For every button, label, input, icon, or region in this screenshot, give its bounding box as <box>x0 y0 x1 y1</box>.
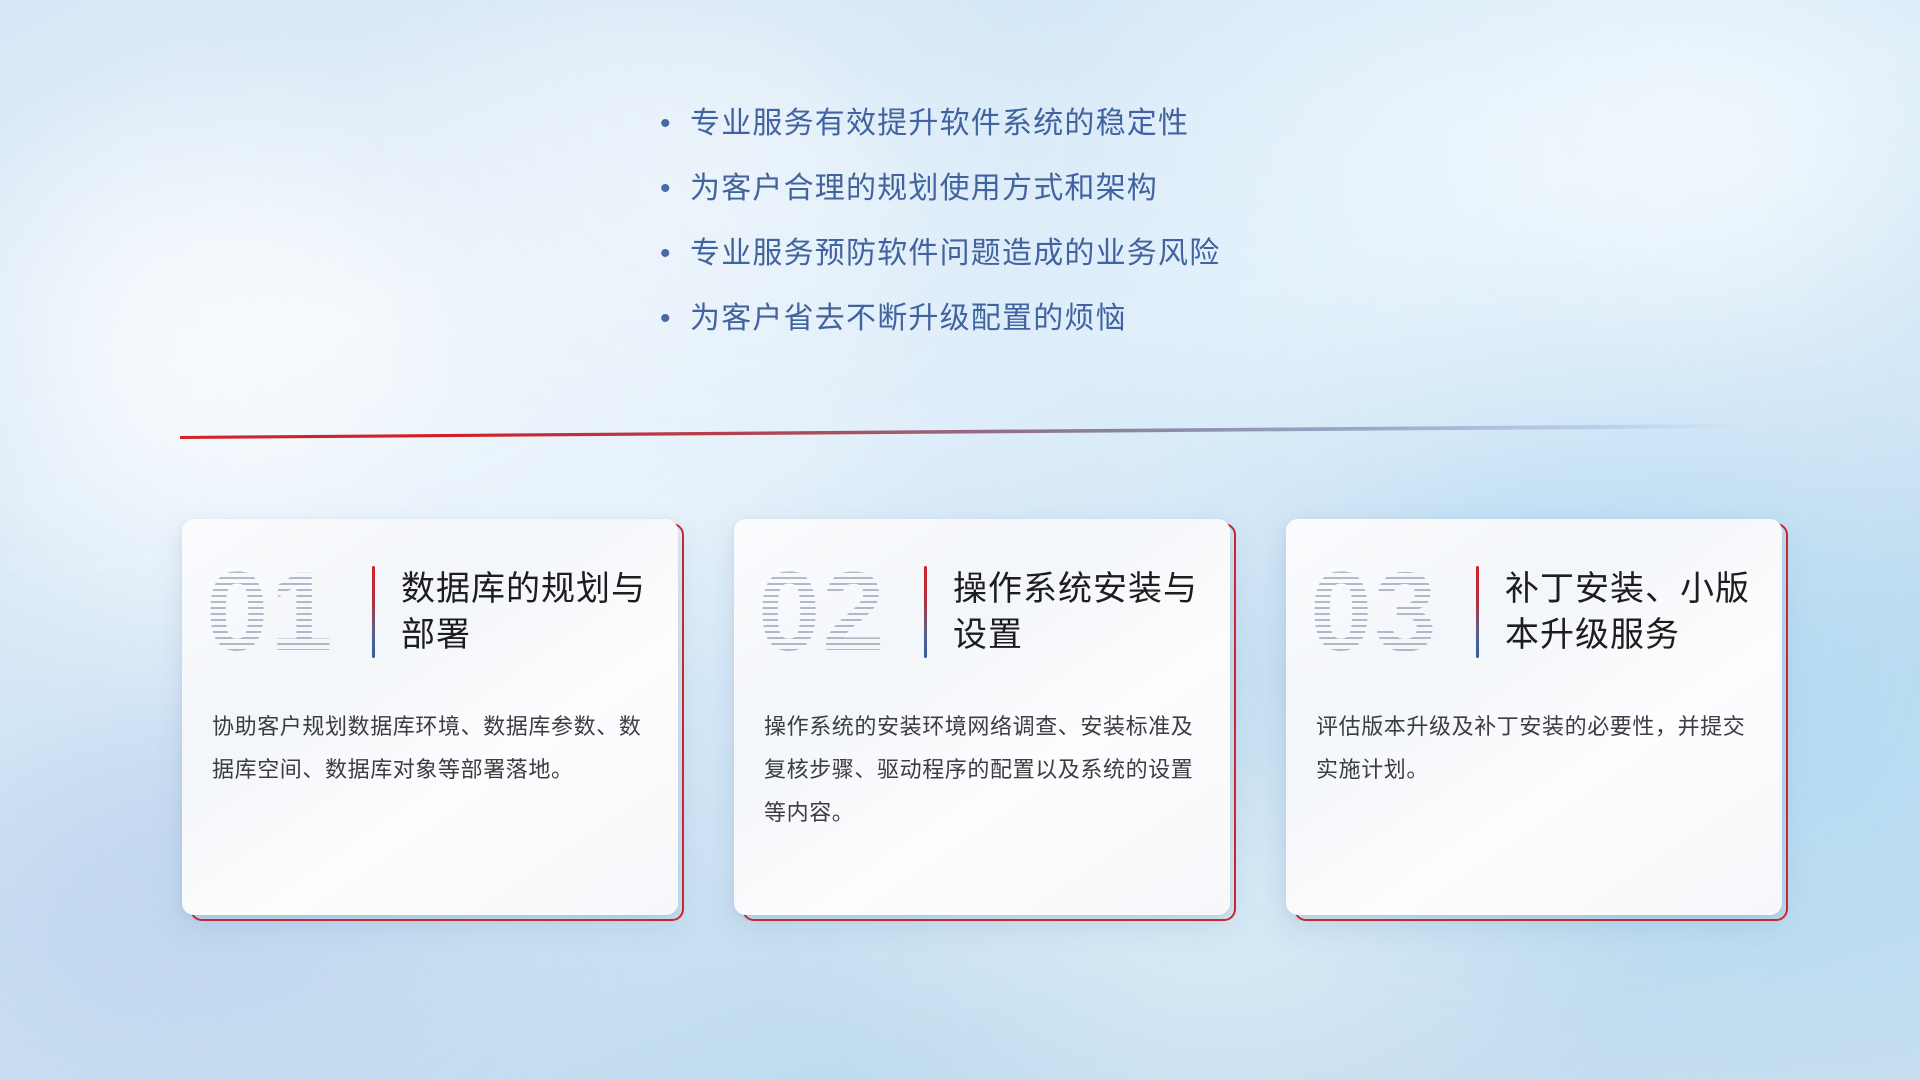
bullet-dot-icon: • <box>660 234 690 272</box>
section-divider <box>180 420 1740 444</box>
service-card-01[interactable]: 01 数据库的规划与部署 协助客户规划数据库环境、数据库参数、数据库空间、数据库… <box>182 519 678 915</box>
list-item: • 为客户省去不断升级配置的烦恼 <box>660 299 1480 364</box>
card-header: 01 数据库的规划与部署 <box>182 519 678 705</box>
bullet-dot-icon: • <box>660 169 690 207</box>
card-surface: 03 补丁安装、小版本升级服务 评估版本升级及补丁安装的必要性，并提交实施计划。 <box>1286 519 1782 915</box>
bullet-text: 专业服务有效提升软件系统的稳定性 <box>690 104 1189 144</box>
benefits-bullet-list: • 专业服务有效提升软件系统的稳定性 • 为客户合理的规划使用方式和架构 • 专… <box>660 104 1480 364</box>
card-description: 操作系统的安装环境网络调查、安装标准及复核步骤、驱动程序的配置以及系统的设置等内… <box>734 705 1230 834</box>
card-divider-rule <box>924 566 927 658</box>
slide-root: • 专业服务有效提升软件系统的稳定性 • 为客户合理的规划使用方式和架构 • 专… <box>0 0 1920 1080</box>
tapered-divider-icon <box>180 420 1740 444</box>
bullet-dot-icon: • <box>660 104 690 142</box>
card-header: 03 补丁安装、小版本升级服务 <box>1286 519 1782 705</box>
bullet-text: 为客户合理的规划使用方式和架构 <box>690 169 1158 209</box>
bullet-dot-icon: • <box>660 299 690 337</box>
list-item: • 为客户合理的规划使用方式和架构 <box>660 169 1480 234</box>
card-number: 02 <box>758 547 918 677</box>
card-number: 03 <box>1310 547 1470 677</box>
card-surface: 01 数据库的规划与部署 协助客户规划数据库环境、数据库参数、数据库空间、数据库… <box>182 519 678 915</box>
list-item: • 专业服务预防软件问题造成的业务风险 <box>660 234 1480 299</box>
card-title: 操作系统安装与设置 <box>953 566 1203 658</box>
card-divider-rule <box>372 566 375 658</box>
card-description: 协助客户规划数据库环境、数据库参数、数据库空间、数据库对象等部署落地。 <box>182 705 678 791</box>
card-divider-rule <box>1476 566 1479 658</box>
card-description: 评估版本升级及补丁安装的必要性，并提交实施计划。 <box>1286 705 1782 791</box>
list-item: • 专业服务有效提升软件系统的稳定性 <box>660 104 1480 169</box>
card-surface: 02 操作系统安装与设置 操作系统的安装环境网络调查、安装标准及复核步骤、驱动程… <box>734 519 1230 915</box>
bullet-text: 专业服务预防软件问题造成的业务风险 <box>690 234 1220 274</box>
service-card-row: 01 数据库的规划与部署 协助客户规划数据库环境、数据库参数、数据库空间、数据库… <box>182 519 1782 919</box>
card-number: 01 <box>206 547 366 677</box>
service-card-02[interactable]: 02 操作系统安装与设置 操作系统的安装环境网络调查、安装标准及复核步骤、驱动程… <box>734 519 1230 915</box>
background-glow-top-right <box>1430 0 1920 360</box>
card-title: 补丁安装、小版本升级服务 <box>1505 566 1755 658</box>
card-header: 02 操作系统安装与设置 <box>734 519 1230 705</box>
service-card-03[interactable]: 03 补丁安装、小版本升级服务 评估版本升级及补丁安装的必要性，并提交实施计划。 <box>1286 519 1782 915</box>
bullet-text: 为客户省去不断升级配置的烦恼 <box>690 299 1127 339</box>
card-title: 数据库的规划与部署 <box>401 566 651 658</box>
